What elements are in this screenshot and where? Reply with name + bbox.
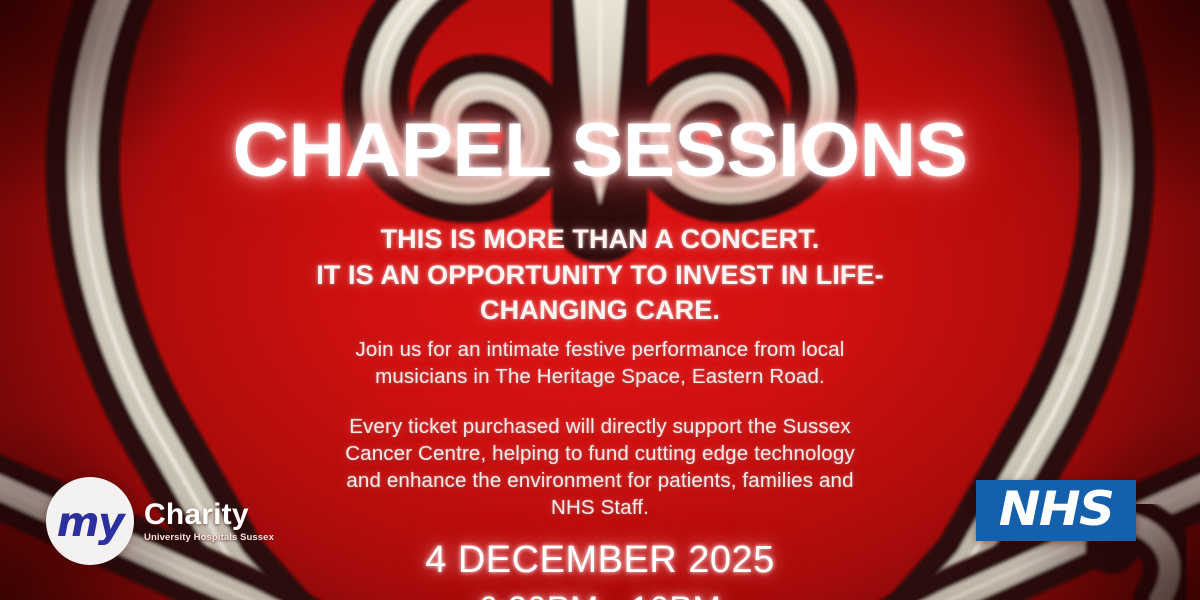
nhs-wordmark: NHS bbox=[999, 486, 1114, 533]
subtitle-line-1: THIS IS MORE THAN A CONCERT. bbox=[0, 222, 1200, 258]
paragraph-one-line-1: Join us for an intimate festive performa… bbox=[0, 336, 1200, 363]
subtitle-line-3: CHANGING CARE. bbox=[0, 293, 1200, 329]
paragraph-two-line-2: Cancer Centre, helping to fund cutting e… bbox=[0, 440, 1200, 467]
nhs-logo: NHS bbox=[976, 480, 1136, 541]
charity-strapline-label: University Hospitals Sussex bbox=[144, 533, 274, 543]
paragraph-one-line-2: musicians in The Heritage Space, Eastern… bbox=[0, 363, 1200, 390]
charity-logo-text: Charity University Hospitals Sussex bbox=[144, 500, 274, 543]
event-poster: CHAPEL SESSIONS THIS IS MORE THAN A CONC… bbox=[0, 0, 1200, 600]
my-charity-logo: my Charity University Hospitals Sussex bbox=[46, 477, 274, 565]
charity-name-label: Charity bbox=[144, 500, 274, 530]
paragraph-two-line-1: Every ticket purchased will directly sup… bbox=[0, 413, 1200, 440]
my-charity-circle-mark: my bbox=[46, 477, 134, 565]
my-wordmark: my bbox=[57, 502, 123, 543]
paragraph-spacer bbox=[0, 391, 1200, 413]
event-time: 6:30PM - 10PM bbox=[0, 592, 1200, 600]
poster-subtitle: THIS IS MORE THAN A CONCERT. IT IS AN OP… bbox=[0, 222, 1200, 329]
subtitle-line-2: IT IS AN OPPORTUNITY TO INVEST IN LIFE- bbox=[0, 258, 1200, 294]
poster-title: CHAPEL SESSIONS bbox=[0, 113, 1200, 189]
